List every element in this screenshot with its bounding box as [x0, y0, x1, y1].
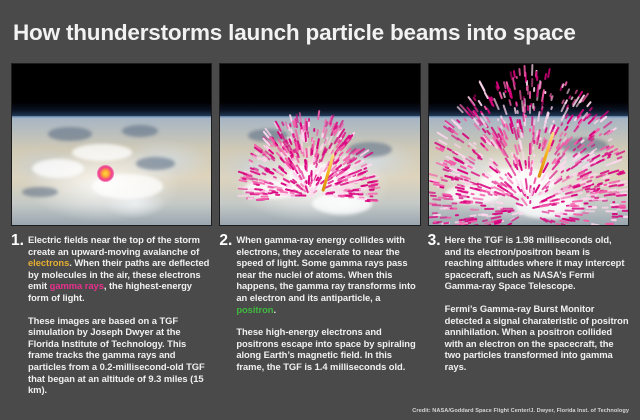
- step-1-paragraph-2: These images are based on a TGF simulati…: [28, 315, 212, 396]
- text-segment-plain: These images are based on a TGF simulati…: [28, 315, 205, 396]
- step-number-1: 1.: [11, 234, 28, 247]
- step-1-paragraph-1: Electric fields near the top of the stor…: [28, 234, 212, 304]
- panel-3-expanded-beam: [428, 63, 629, 226]
- panel-1-storm-flash: [11, 63, 212, 226]
- lightning-flash-dot: [97, 165, 114, 182]
- step-body-1: Electric fields near the top of the stor…: [28, 234, 212, 396]
- earth-surface: [220, 119, 419, 225]
- text-segment-positron: positron: [236, 304, 273, 315]
- space-sky: [220, 64, 419, 117]
- step-2-paragraph-1: When gamma-ray energy collides with elec…: [236, 234, 420, 315]
- text-segment-plain: These high-energy electrons and positron…: [236, 326, 415, 372]
- caption-column-1: 1. Electric fields near the top of the s…: [11, 234, 212, 396]
- step-1: 1. Electric fields near the top of the s…: [11, 234, 212, 396]
- text-segment-plain: Fermi’s Gamma-ray Burst Monitor detected…: [445, 303, 629, 372]
- text-segment-plain: Here the TGF is 1.98 milliseconds old, a…: [445, 234, 625, 291]
- space-sky: [12, 64, 211, 117]
- text-segment-electron: electrons: [28, 257, 69, 268]
- step-3: 3. Here the TGF is 1.98 milliseconds old…: [428, 234, 629, 373]
- infographic-root: How thunderstorms launch particle beams …: [0, 0, 640, 420]
- step-body-3: Here the TGF is 1.98 milliseconds old, a…: [445, 234, 629, 373]
- text-segment-plain: .: [273, 304, 276, 315]
- caption-column-3: 3. Here the TGF is 1.98 milliseconds old…: [428, 234, 629, 396]
- panel-2-particle-dome: [219, 63, 420, 226]
- step-3-paragraph-1: Here the TGF is 1.98 milliseconds old, a…: [445, 234, 629, 292]
- space-sky: [429, 64, 628, 117]
- step-2-paragraph-2: These high-energy electrons and positron…: [236, 326, 420, 372]
- step-body-2: When gamma-ray energy collides with elec…: [236, 234, 420, 373]
- text-segment-plain: Electric fields near the top of the stor…: [28, 234, 200, 257]
- text-segment-plain: When gamma-ray energy collides with elec…: [236, 234, 415, 303]
- caption-column-2: 2. When gamma-ray energy collides with e…: [219, 234, 420, 396]
- step-number-2: 2.: [219, 234, 236, 247]
- text-segment-gamma: gamma rays: [50, 280, 104, 291]
- page-title: How thunderstorms launch particle beams …: [13, 20, 576, 46]
- earth-surface: [429, 119, 628, 225]
- caption-column-row: 1. Electric fields near the top of the s…: [11, 234, 629, 396]
- image-credit: Credit: NASA/Goddard Space Flight Center…: [412, 408, 629, 414]
- image-panel-row: [11, 63, 629, 226]
- step-2: 2. When gamma-ray energy collides with e…: [219, 234, 420, 373]
- step-number-3: 3.: [428, 234, 445, 247]
- step-3-paragraph-2: Fermi’s Gamma-ray Burst Monitor detected…: [445, 303, 629, 373]
